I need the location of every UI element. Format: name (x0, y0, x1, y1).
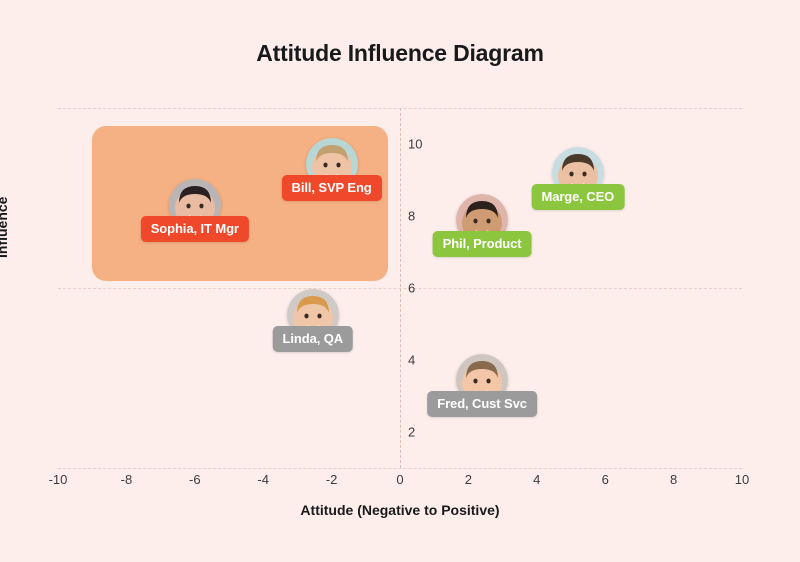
x-tick-label: -10 (49, 472, 68, 487)
x-tick-label: -6 (189, 472, 201, 487)
point-label-phil[interactable]: Phil, Product (433, 231, 532, 257)
y-tick-label: 2 (408, 425, 415, 440)
x-tick-label: 2 (465, 472, 472, 487)
x-tick-label: 6 (602, 472, 609, 487)
point-label-sophia[interactable]: Sophia, IT Mgr (141, 216, 249, 242)
point-label-fred[interactable]: Fred, Cust Svc (427, 391, 537, 417)
plot-area (58, 108, 742, 468)
x-tick-label: 0 (396, 472, 403, 487)
point-label-linda[interactable]: Linda, QA (273, 326, 354, 352)
x-axis-title: Attitude (Negative to Positive) (0, 502, 800, 518)
x-tick-label: -4 (257, 472, 269, 487)
y-tick-label: 6 (408, 281, 415, 296)
x-tick-label: 10 (735, 472, 749, 487)
gridline-horizontal (58, 468, 742, 469)
x-tick-label: -8 (121, 472, 133, 487)
y-tick-label: 8 (408, 209, 415, 224)
point-label-bill[interactable]: Bill, SVP Eng (282, 175, 382, 201)
point-label-marge[interactable]: Marge, CEO (531, 184, 624, 210)
y-axis-title: Influence (0, 197, 10, 258)
y-axis-line (400, 108, 401, 468)
page-title: Attitude Influence Diagram (0, 40, 800, 67)
chart-canvas: Attitude Influence Diagram Attitude (Neg… (0, 0, 800, 562)
x-tick-label: 8 (670, 472, 677, 487)
y-tick-label: 10 (408, 137, 422, 152)
y-tick-label: 4 (408, 353, 415, 368)
x-tick-label: 4 (533, 472, 540, 487)
x-tick-label: -2 (326, 472, 338, 487)
